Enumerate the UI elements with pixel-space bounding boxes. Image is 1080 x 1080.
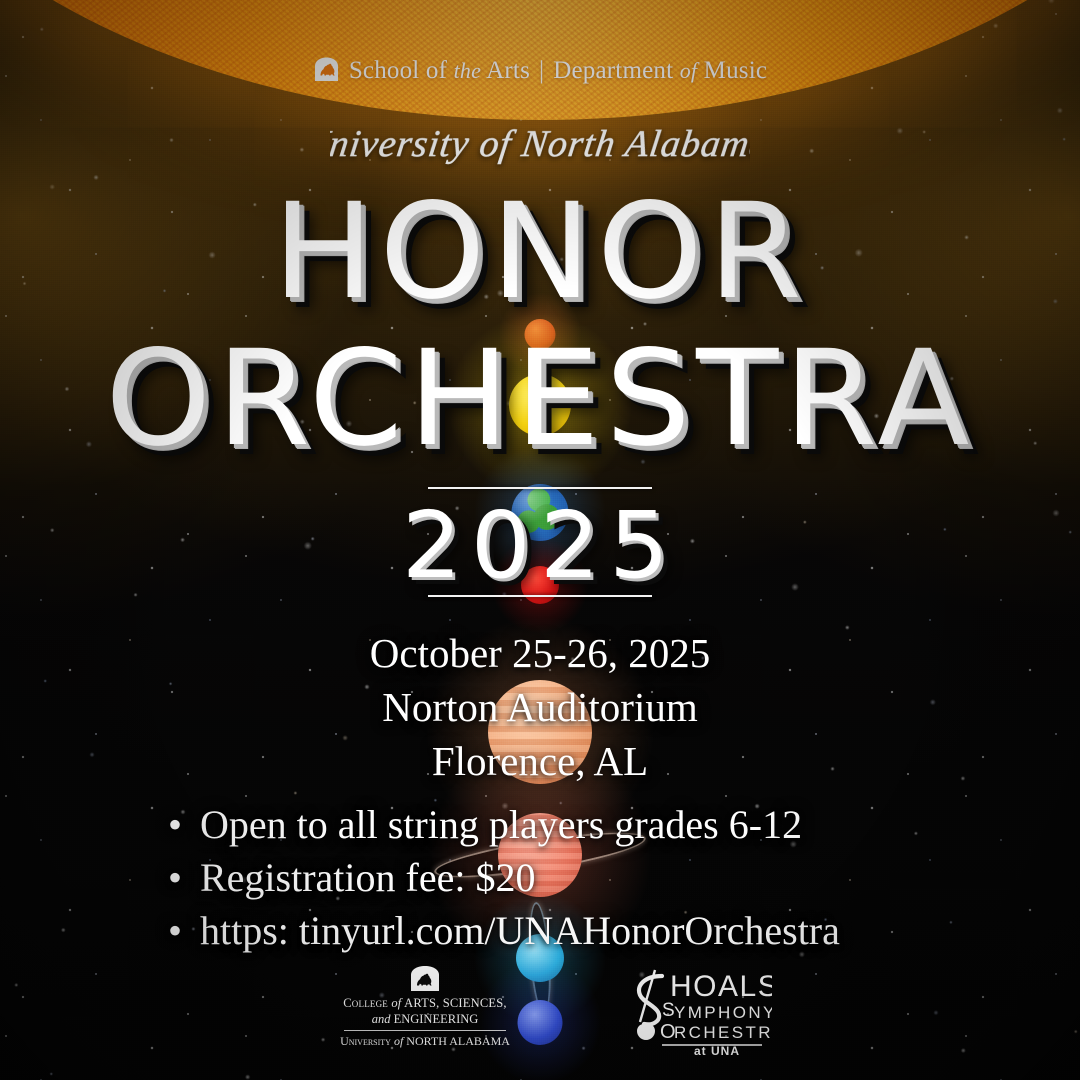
list-item: Registration fee: $20 [200, 854, 840, 901]
footer-logos: College of ARTS, SCIENCES, and ENGINEERI… [0, 962, 1080, 1067]
sso-tagline: at UNA [694, 1044, 740, 1057]
sso-word-symphony: YMPHONY [674, 1003, 772, 1022]
college-line-1: College of ARTS, SCIENCES, [330, 996, 520, 1011]
college-word-of-2: of [394, 1034, 403, 1048]
title-line-honor-wrap: HONOR [0, 186, 1080, 318]
list-item-registration-link[interactable]: https: tinyurl.com/UNAHonorOrchestra [200, 907, 840, 954]
list-item: Open to all string players grades 6-12 [200, 801, 840, 848]
college-line-3: University of NORTH ALABAMA [330, 1034, 520, 1049]
event-dates: October 25-26, 2025 [0, 626, 1080, 680]
info-bullets: Open to all string players grades 6-12 R… [168, 801, 840, 961]
sota-department: Department [553, 57, 673, 84]
sota-arts: Arts [486, 57, 530, 84]
year-rule-top [428, 487, 652, 489]
college-line-2: and ENGINEERING [330, 1012, 520, 1027]
shoals-symphony-orchestra-logo: HOALS YMPHONY RCHESTRA S O at UNA [622, 962, 772, 1057]
event-city: Florence, AL [0, 734, 1080, 788]
college-word-and: and [372, 1012, 391, 1026]
university-script-text: University of North Alabama [330, 123, 750, 165]
sota-dept-of: of [680, 58, 698, 83]
title-line-honor: HONOR [0, 186, 1080, 318]
college-word-of: of [391, 996, 401, 1010]
title-line-orchestra: ORCHESTRA [0, 333, 1080, 465]
title-line-orchestra-wrap: ORCHESTRA [0, 333, 1080, 465]
sota-school: School of [349, 57, 447, 84]
sota-the: the [454, 58, 481, 83]
sso-word-orchestra: RCHESTRA [674, 1023, 772, 1042]
sso-letter-o: O [660, 1021, 676, 1043]
college-word-college: College [343, 996, 388, 1010]
event-details: October 25-26, 2025 Norton Auditorium Fl… [0, 626, 1080, 788]
una-lion-icon [313, 56, 340, 83]
conductor-baton-icon [637, 970, 662, 1040]
sso-word-shoals: HOALS [670, 970, 772, 1003]
title-year: 2025 [0, 500, 1080, 592]
college-divider-rule [344, 1030, 506, 1031]
college-word-university: University [340, 1034, 391, 1048]
sota-divider: | [539, 57, 544, 84]
event-venue: Norton Auditorium [0, 680, 1080, 734]
event-poster: School of the Arts|Department of Music U… [0, 0, 1080, 1080]
university-script-logo: University of North Alabama [0, 112, 1080, 174]
college-word-arts-sciences: ARTS, SCIENCES, [404, 996, 507, 1010]
school-of-the-arts-header: School of the Arts|Department of Music [0, 56, 1080, 85]
college-of-arts-sciences-engineering-logo: College of ARTS, SCIENCES, and ENGINEERI… [330, 964, 520, 1049]
sso-letter-s-1: S [662, 1000, 675, 1021]
title-year-wrap: 2025 [0, 500, 1080, 592]
year-rule-bottom [428, 595, 652, 597]
college-word-engineering: ENGINEERING [394, 1012, 479, 1026]
college-word-north-alabama: NORTH ALABAMA [406, 1034, 510, 1048]
una-lion-icon [408, 964, 442, 992]
sota-music: Music [704, 57, 768, 84]
